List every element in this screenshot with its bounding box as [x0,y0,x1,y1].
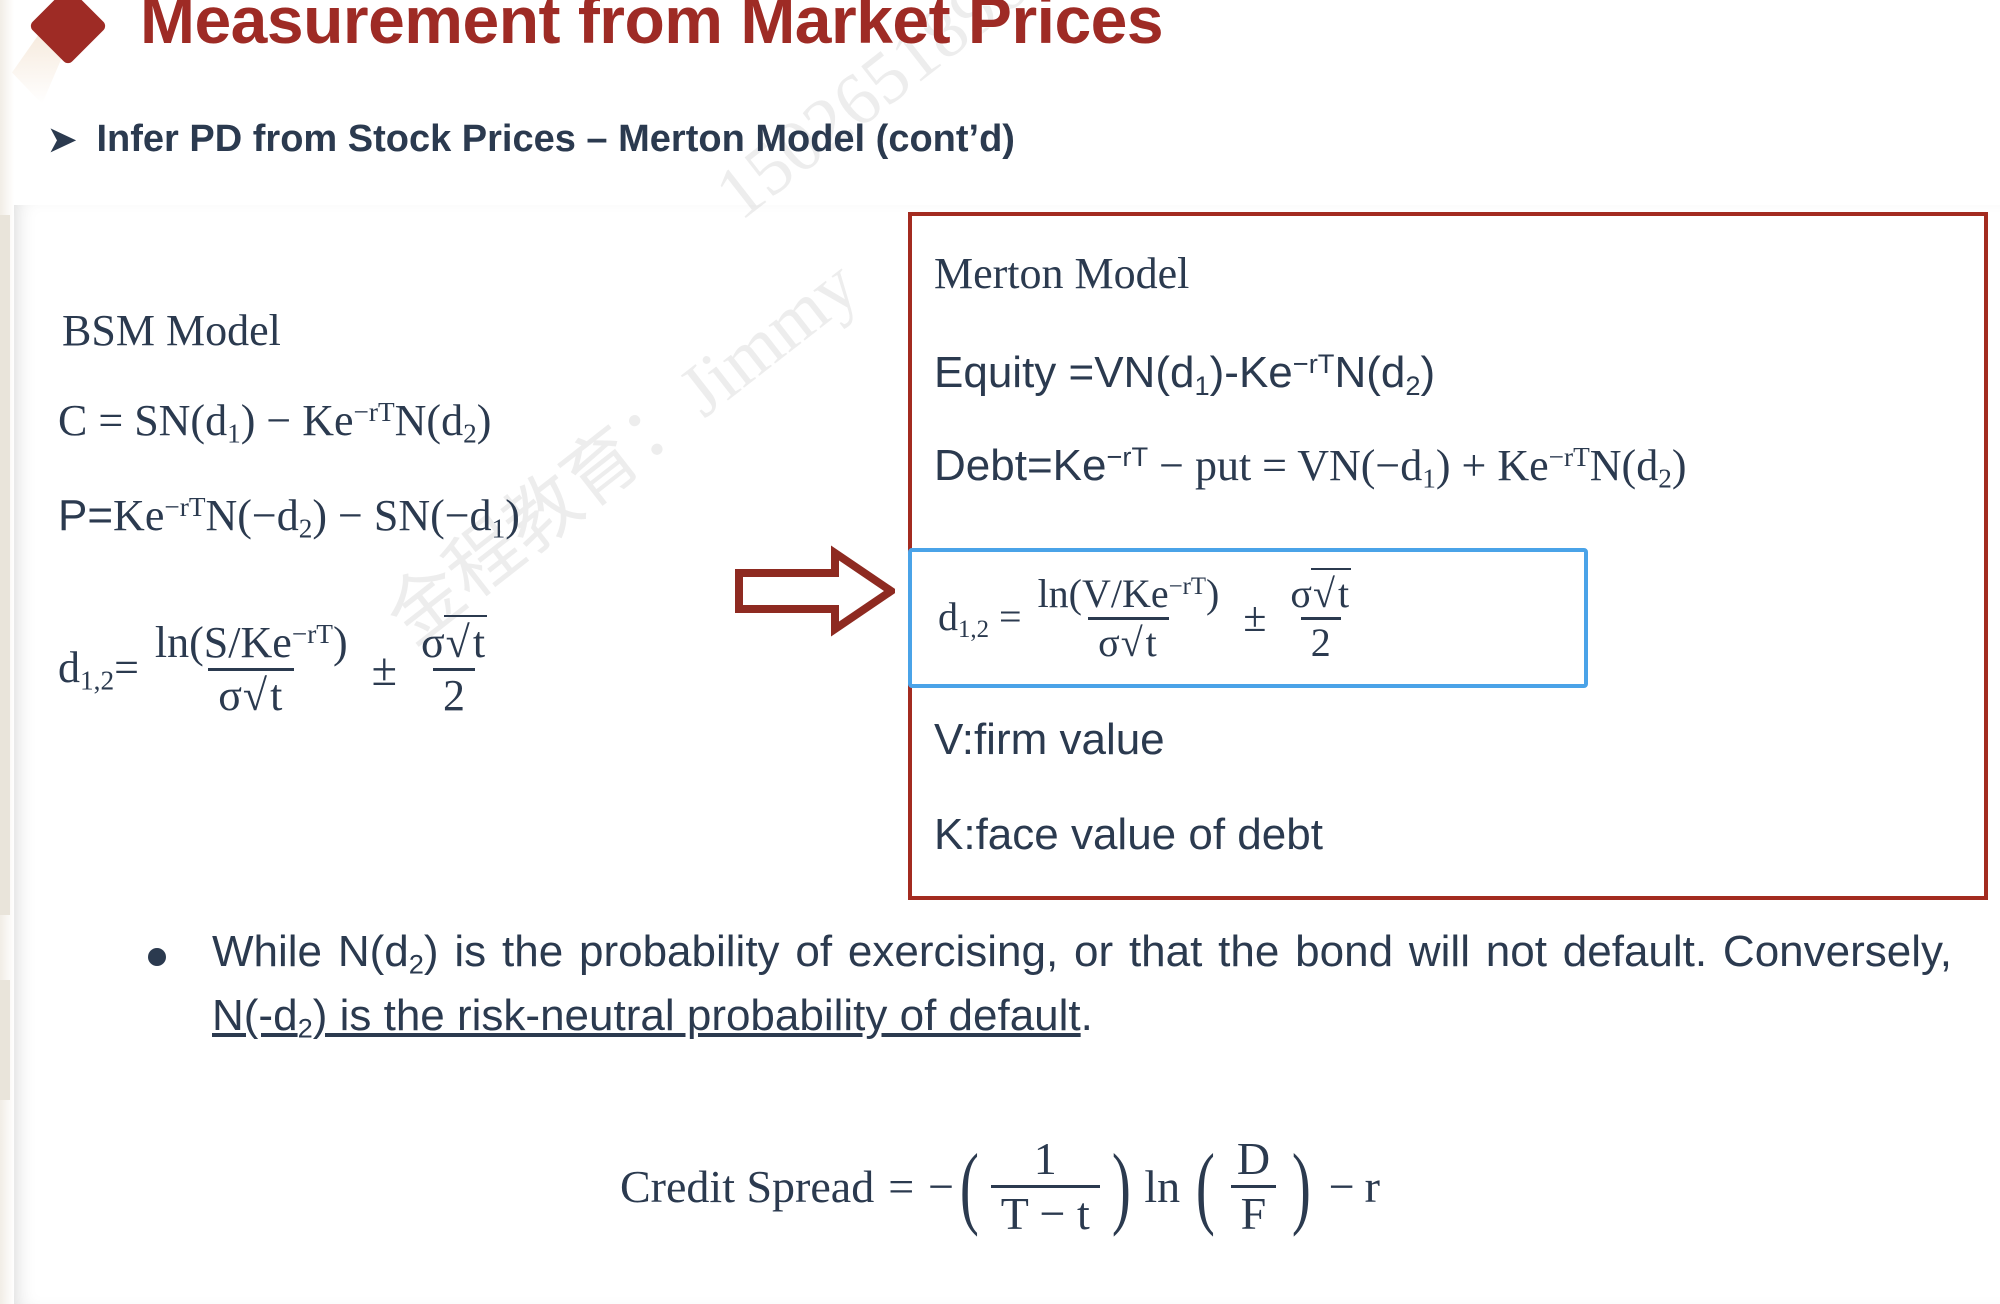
credit-spread-ln: ln [1144,1160,1180,1213]
bsm-put-equation: P=Ke−rTN(−d2) − SN(−d1) [58,490,520,545]
credit-spread-frac1-num: 1 [1024,1135,1067,1185]
bsm-put-rhs: Ke−rTN(−d2) − SN(−d1) [113,491,520,540]
credit-spread-eq: = [888,1160,914,1213]
credit-spread-paren-close-2: ) [1292,1151,1311,1223]
paragraph-bullet-icon [148,948,166,966]
paragraph-underlined: N(-d2) is the risk-neutral probability o… [212,991,1081,1040]
merton-d-lhs: d1,2 = [938,593,1022,644]
bsm-d-lhs: d1,2= [58,642,139,697]
paragraph-period: . [1081,991,1093,1040]
bsm-d-term2-denominator: 2 [433,668,475,719]
merton-d-plusminus: ± [1243,594,1266,642]
merton-d-numerator: ln(V/Ke−rT) [1028,573,1230,617]
explanation-paragraph: While N(d2) is the probability of exerci… [212,920,1952,1048]
chevron-right-icon: ➤ [48,123,77,157]
bsm-call-lhs: C [58,396,87,445]
credit-spread-tail-r: r [1365,1160,1380,1213]
credit-spread-paren-open: ( [960,1151,979,1223]
slide-title-row: Measurement from Market Prices [0,0,2000,86]
bsm-d-second-fraction: σ√t 2 [411,620,497,719]
bsm-call-eq: = [98,396,123,445]
bsm-d-numerator: ln(S/Ke−rT) [145,620,358,668]
merton-legend-k: K:face value of debt [934,810,1323,860]
merton-debt-prefix: Debt=Ke−rT [934,441,1148,490]
merton-legend-v: V:firm value [934,715,1165,765]
paragraph-part1: While N(d2) is the probability of exerci… [212,927,1952,976]
bsm-d-plusminus: ± [372,643,397,696]
credit-spread-frac1-den: T − t [991,1185,1100,1238]
bsm-d-equation: d1,2= ln(S/Ke−rT) σ√t ± σ√t 2 [58,620,503,720]
bsm-model-label: BSM Model [62,305,281,356]
merton-d-main-fraction: ln(V/Ke−rT) σ√t [1028,573,1230,664]
credit-spread-equation: Credit Spread = − ( 1 T − t ) ln ( D F )… [0,1135,2000,1239]
merton-d-term2-denominator: 2 [1301,617,1341,664]
merton-d-second-fraction: σ√t 2 [1280,573,1361,664]
merton-equity-equation: Equity =VN(d1)-Ke−rTN(d2) [934,348,1435,402]
merton-debt-equation: Debt=Ke−rT − put = VN(−d1) + Ke−rTN(d2) [934,440,1687,495]
subtitle-row: ➤ Infer PD from Stock Prices – Merton Mo… [48,118,1015,161]
merton-model-label: Merton Model [934,248,1189,299]
bsm-d-main-fraction: ln(S/Ke−rT) σ√t [145,620,358,720]
credit-spread-paren-close: ) [1112,1151,1131,1223]
slide-root: 15026518960 金程教育：Jimmy Measurement from … [0,0,2000,1304]
credit-spread-minus: − [928,1160,954,1213]
credit-spread-frac2-den: F [1231,1185,1277,1238]
page-title: Measurement from Market Prices [140,0,1163,58]
bsm-call-rhs: SN(d1) − Ke−rTN(d2) [134,396,491,445]
merton-d-term2-numerator: σ√t [1280,573,1361,617]
left-edge-notch-upper [0,215,10,915]
bsm-d-term2-numerator: σ√t [411,620,497,668]
credit-spread-tail-minus: − [1329,1160,1355,1213]
bsm-call-equation: C = SN(d1) − Ke−rTN(d2) [58,395,491,450]
subtitle-text: Infer PD from Stock Prices – Merton Mode… [97,118,1015,161]
credit-spread-fraction-1: 1 T − t [991,1135,1100,1239]
bsm-d-denominator: σ√t [208,668,294,719]
merton-debt-rest: − put = VN(−d1) + Ke−rTN(d2) [1148,441,1686,490]
credit-spread-paren-open-2: ( [1196,1151,1215,1223]
credit-spread-frac2-num: D [1227,1135,1280,1185]
left-edge-notch-lower [0,980,10,1100]
bsm-put-lhs: P= [58,491,113,540]
credit-spread-label: Credit Spread [620,1160,874,1213]
credit-spread-fraction-2: D F [1227,1135,1280,1239]
merton-d-denominator: σ√t [1088,617,1169,664]
merton-d-formula-highlight-box: d1,2 = ln(V/Ke−rT) σ√t ± σ√t 2 [908,548,1588,688]
right-arrow-icon [735,545,895,637]
merton-d-equation: d1,2 = ln(V/Ke−rT) σ√t ± σ√t 2 [938,573,1367,664]
